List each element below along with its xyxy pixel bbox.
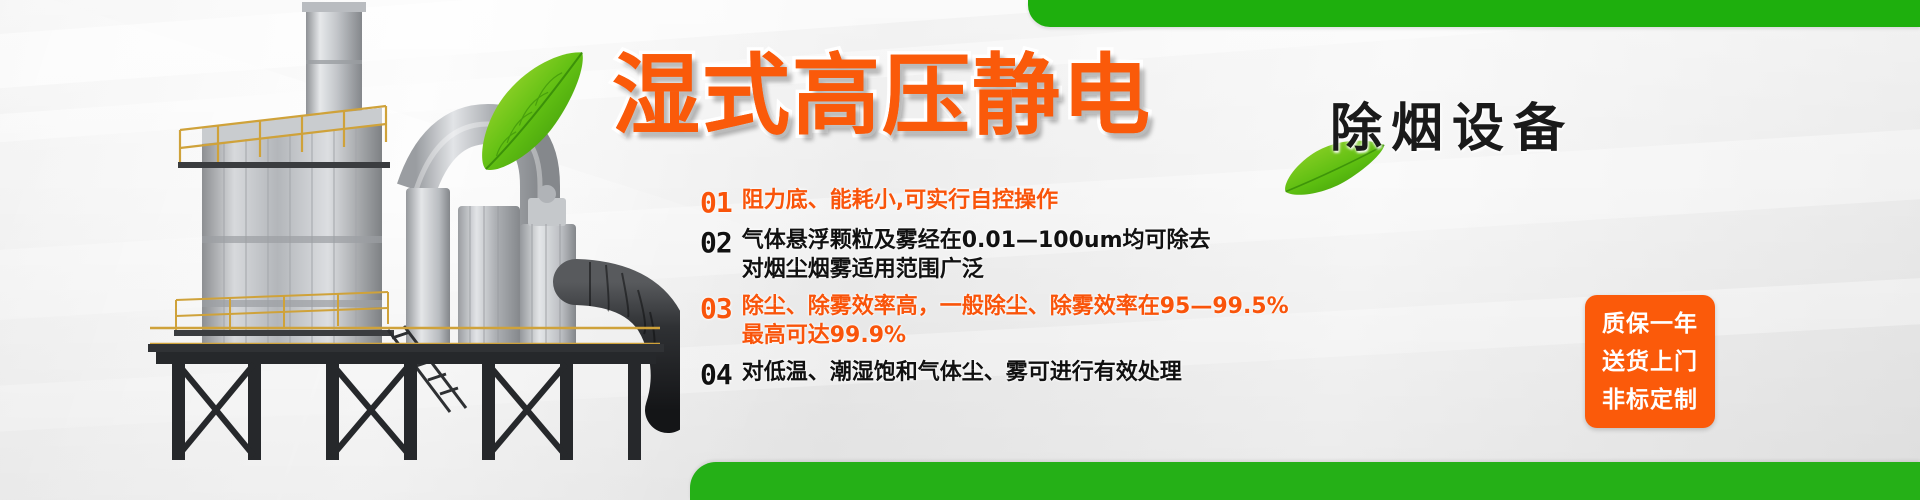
leaf-icon: [464, 46, 601, 176]
subtitle: 除烟设备: [1330, 103, 1574, 155]
feature-item: 02 气体悬浮颗粒及雾经在0.01—100um均可除去 对烟尘烟雾适用范围广泛: [700, 226, 1320, 284]
green-accent-bar-bottom: [690, 462, 1920, 500]
promo-banner: 湿式高压静电 湿式高压静电 除烟设备 01 阻力底、能耗小,可实行自控操作 02…: [0, 0, 1920, 500]
feature-text: 气体悬浮颗粒及雾经在0.01—100um均可除去 对烟尘烟雾适用范围广泛: [742, 226, 1211, 284]
feature-line-2: 对烟尘烟雾适用范围广泛: [742, 255, 1211, 284]
feature-number: 03: [700, 292, 732, 326]
feature-number: 04: [700, 358, 732, 392]
industrial-plant-photo: [120, 0, 680, 460]
green-accent-bar-top: [1028, 0, 1920, 27]
badge-line-2: 送货上门: [1602, 343, 1698, 381]
feature-item: 04 对低温、潮湿饱和气体尘、雾可进行有效处理: [700, 358, 1320, 392]
feature-item: 01 阻力底、能耗小,可实行自控操作: [700, 186, 1320, 220]
feature-text: 阻力底、能耗小,可实行自控操作: [742, 186, 1058, 215]
feature-line-2: 最高可达99.9%: [742, 321, 1289, 350]
page-title: 湿式高压静电: [612, 52, 1152, 140]
feature-text: 除尘、除雾效率高，一般除尘、除雾效率在95—99.5% 最高可达99.9%: [742, 292, 1289, 350]
feature-line-1: 气体悬浮颗粒及雾经在0.01—100um均可除去: [742, 228, 1211, 253]
feature-number: 01: [700, 186, 732, 220]
service-guarantee-badge: 质保一年 送货上门 非标定制: [1585, 295, 1715, 428]
badge-line-1: 质保一年: [1602, 305, 1698, 343]
feature-number: 02: [700, 226, 732, 260]
badge-line-3: 非标定制: [1602, 381, 1698, 419]
feature-line-1: 阻力底、能耗小,可实行自控操作: [742, 188, 1058, 213]
feature-line-1: 除尘、除雾效率高，一般除尘、除雾效率在95—99.5%: [742, 294, 1289, 319]
feature-list: 01 阻力底、能耗小,可实行自控操作 02 气体悬浮颗粒及雾经在0.01—100…: [700, 186, 1320, 394]
feature-item: 03 除尘、除雾效率高，一般除尘、除雾效率在95—99.5% 最高可达99.9%: [700, 292, 1320, 350]
feature-line-1: 对低温、潮湿饱和气体尘、雾可进行有效处理: [742, 360, 1182, 385]
feature-text: 对低温、潮湿饱和气体尘、雾可进行有效处理: [742, 358, 1182, 387]
